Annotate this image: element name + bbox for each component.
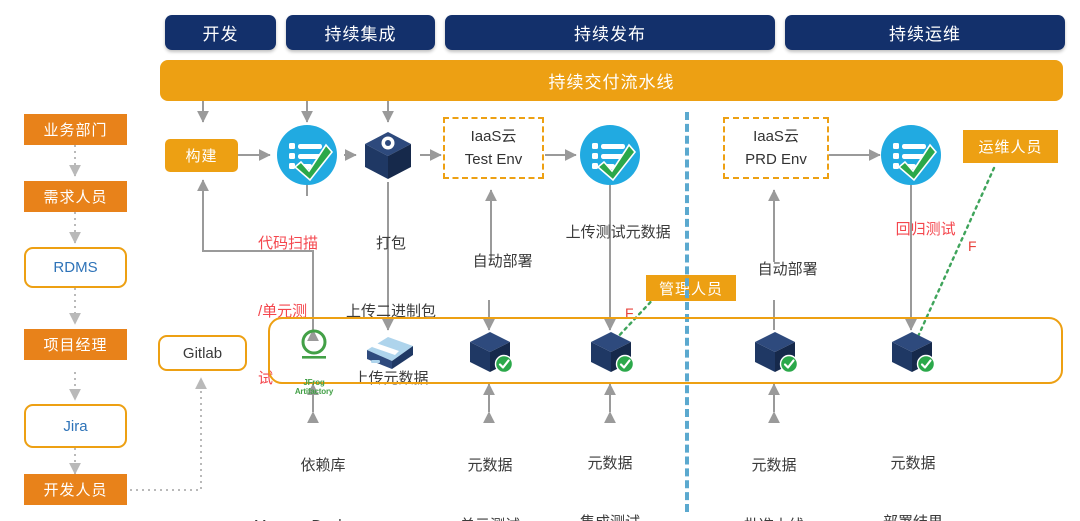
footer-line: 集成测试	[557, 513, 663, 521]
checklist-check-icon[interactable]	[579, 124, 641, 186]
sidebar-item-label: 开发人员	[43, 479, 107, 500]
footer-group-deploy-meta: 元数据 部署结果 节点信息 故障回滚	[857, 415, 969, 521]
footer-title: 元数据	[434, 456, 546, 476]
pipeline-bar[interactable]: 持续交付流水线	[160, 60, 1063, 101]
role-label: 管理人员	[659, 278, 723, 299]
annotation-auto-deploy-prd: 自动部署	[741, 240, 818, 299]
phase-bar-ci[interactable]: 持续集成	[286, 15, 435, 50]
regression-test-label: 回归测试	[896, 221, 956, 238]
phase-label: 开发	[203, 20, 239, 45]
role-label: 运维人员	[978, 136, 1042, 157]
cube-verified-icon[interactable]	[585, 328, 637, 376]
phase-bar-ops[interactable]: 持续运维	[785, 15, 1065, 50]
annotation-regression-test: 回归测试	[879, 200, 956, 259]
footer-title: 依赖库	[248, 456, 398, 476]
cube-verified-icon[interactable]	[886, 328, 938, 376]
sidebar-item-jira[interactable]: Jira	[24, 404, 127, 448]
iaas-prd-line2: PRD Env	[745, 148, 807, 171]
sidebar-item-label: 业务部门	[43, 119, 107, 140]
package-box-icon[interactable]	[362, 330, 418, 372]
build-node[interactable]: 构建	[165, 139, 238, 172]
cube-verified-icon[interactable]	[749, 328, 801, 376]
package-line1: 打包	[331, 233, 451, 256]
footer-title: 元数据	[557, 454, 663, 474]
gitlab-label: Gitlab	[183, 345, 222, 362]
auto-deploy-test-label: 自动部署	[473, 253, 533, 270]
sidebar-item-label: 需求人员	[43, 186, 107, 207]
footer-line: Maven Docker	[248, 516, 398, 521]
footer-line: 单元测试	[434, 516, 546, 521]
annotation-package: 打包 上传二进制包 上传元数据	[331, 188, 451, 436]
f-mark-ops: F	[968, 238, 977, 254]
gitlab-node[interactable]: Gitlab	[158, 335, 247, 371]
annotation-auto-deploy-test: 自动部署	[456, 232, 533, 291]
footer-group-approval-meta: 元数据 批准上线	[718, 415, 830, 521]
sidebar-item-label: 项目经理	[43, 334, 107, 355]
pipeline-label: 持续交付流水线	[549, 68, 675, 93]
footer-line: 批准上线	[718, 516, 830, 521]
sidebar-item-business-dept[interactable]: 业务部门	[24, 114, 127, 145]
auto-deploy-prd-label: 自动部署	[758, 261, 818, 278]
cube-verified-icon[interactable]	[464, 328, 516, 376]
footer-group-integration-test-meta: 元数据 集成测试 压力测试 ...	[557, 415, 663, 521]
sidebar-item-label: RDMS	[53, 259, 97, 276]
phase-label: 持续集成	[325, 20, 397, 45]
iaas-test-env-box[interactable]: IaaS云 Test Env	[443, 117, 544, 179]
code-scan-line1: 代码扫描	[258, 233, 326, 256]
f-mark-ops-label: F	[968, 238, 977, 254]
jfrog-caption: JFrog Artifactory	[286, 378, 342, 396]
annotation-code-scan: 代码扫描 /单元测 试	[258, 188, 326, 436]
sidebar-item-developer[interactable]: 开发人员	[24, 474, 127, 505]
annotation-upload-test-meta: 上传测试元数据	[549, 203, 671, 262]
checklist-check-icon[interactable]	[880, 124, 942, 186]
footer-title: 元数据	[718, 456, 830, 476]
iaas-test-line1: IaaS云	[471, 125, 517, 148]
phase-bar-cd[interactable]: 持续发布	[445, 15, 775, 50]
role-chip-ops[interactable]: 运维人员	[963, 130, 1058, 163]
checklist-check-icon[interactable]	[276, 124, 338, 186]
upload-test-meta-label: 上传测试元数据	[566, 224, 671, 241]
iaas-prd-env-box[interactable]: IaaS云 PRD Env	[723, 117, 829, 179]
environment-divider	[685, 112, 689, 512]
iaas-test-line2: Test Env	[465, 148, 523, 171]
jfrog-artifactory-icon[interactable]: JFrog Artifactory	[286, 325, 342, 377]
devops-pipeline-diagram: 开发 持续集成 持续发布 持续运维 持续交付流水线 业务部门 需求人员 RDMS…	[0, 0, 1080, 521]
sidebar-item-requirements[interactable]: 需求人员	[24, 181, 127, 212]
footer-title: 元数据	[857, 454, 969, 474]
phase-label: 持续发布	[574, 20, 646, 45]
phase-label: 持续运维	[889, 20, 961, 45]
build-label: 构建	[185, 145, 217, 166]
footer-group-unit-test-meta: 元数据 单元测试 Git Commit jira Issues	[434, 415, 546, 521]
cube-gear-icon[interactable]	[358, 126, 418, 184]
sidebar-item-label: Jira	[63, 418, 87, 435]
sidebar-item-project-manager[interactable]: 项目经理	[24, 329, 127, 360]
phase-bar-dev[interactable]: 开发	[165, 15, 276, 50]
role-chip-admin[interactable]: 管理人员	[646, 275, 736, 301]
iaas-prd-line1: IaaS云	[753, 125, 799, 148]
footer-line: 部署结果	[857, 513, 969, 521]
footer-group-dependencies: 依赖库 Maven Docker Gradle NPM ...	[248, 415, 398, 521]
sidebar-item-rdms[interactable]: RDMS	[24, 247, 127, 288]
